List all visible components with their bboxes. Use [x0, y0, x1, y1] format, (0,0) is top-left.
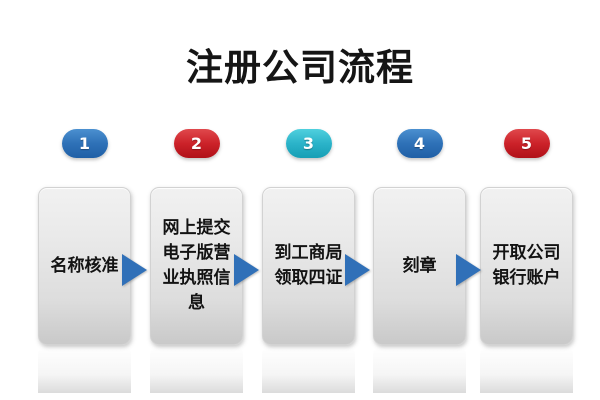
process-step-5: 5 开取公司银行账户 [480, 0, 573, 400]
step-number-badge-1: 1 [62, 129, 108, 158]
arrow-right-icon-3 [345, 254, 370, 286]
arrow-right-icon-4 [456, 254, 481, 286]
arrow-right-icon-2 [234, 254, 259, 286]
process-step-4: 4 刻章 [373, 0, 466, 400]
step-number-badge-4: 4 [397, 129, 443, 158]
box-reflection-2 [150, 347, 243, 393]
process-step-label-1: 名称核准 [51, 254, 119, 279]
process-flow-diagram: 注册公司流程 1 名称核准 2 网上提交电子版营业执照信息 3 到工商局领取四证… [0, 0, 600, 400]
process-step-2: 2 网上提交电子版营业执照信息 [150, 0, 243, 400]
step-number-badge-5: 5 [504, 129, 550, 158]
step-number-badge-2: 2 [174, 129, 220, 158]
process-step-box-3[interactable]: 到工商局领取四证 [262, 187, 355, 345]
arrow-right-icon-1 [122, 254, 147, 286]
process-step-3: 3 到工商局领取四证 [262, 0, 355, 400]
process-step-box-5[interactable]: 开取公司银行账户 [480, 187, 573, 345]
step-number-badge-3: 3 [286, 129, 332, 158]
process-step-1: 1 名称核准 [38, 0, 131, 400]
process-step-box-1[interactable]: 名称核准 [38, 187, 131, 345]
process-step-label-2: 网上提交电子版营业执照信息 [163, 216, 231, 316]
box-reflection-5 [480, 347, 573, 393]
process-step-box-4[interactable]: 刻章 [373, 187, 466, 345]
box-reflection-3 [262, 347, 355, 393]
box-reflection-1 [38, 347, 131, 393]
process-step-box-2[interactable]: 网上提交电子版营业执照信息 [150, 187, 243, 345]
process-step-label-4: 刻章 [386, 254, 454, 279]
box-reflection-4 [373, 347, 466, 393]
process-step-label-5: 开取公司银行账户 [493, 241, 561, 291]
process-step-label-3: 到工商局领取四证 [275, 241, 343, 291]
